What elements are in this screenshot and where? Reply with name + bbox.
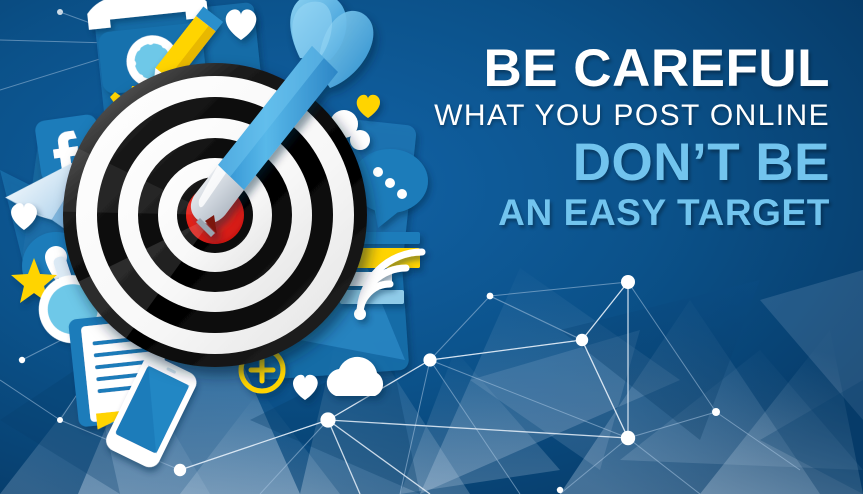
headline-block: BE CAREFUL WHAT YOU POST ONLINE DON’T BE… <box>410 40 830 234</box>
headline-line-2: WHAT YOU POST ONLINE <box>410 98 830 134</box>
headline-line-3: DON’T BE <box>410 134 830 192</box>
headline-line-4: AN EASY TARGET <box>410 192 830 234</box>
poster-banner: BE CAREFUL WHAT YOU POST ONLINE DON’T BE… <box>0 0 863 494</box>
headline-line-1: BE CAREFUL <box>410 40 830 98</box>
